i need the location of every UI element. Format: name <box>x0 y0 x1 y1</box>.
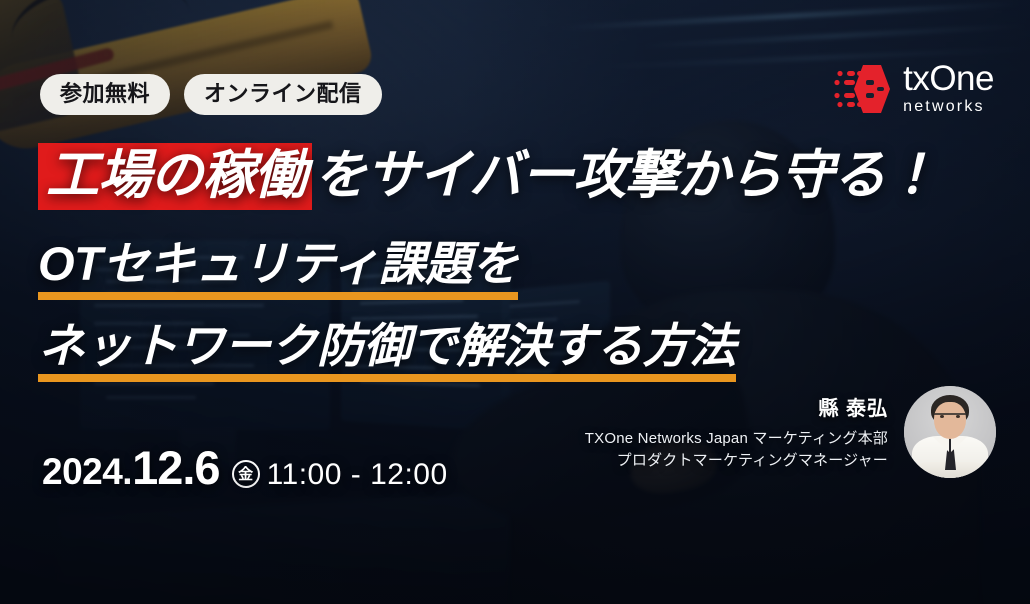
event-year: 2024. <box>42 451 132 493</box>
headline-underline-2 <box>38 292 518 300</box>
event-day: 12.6 <box>132 440 219 495</box>
headline-line-2-row: OTセキュリティ課題を <box>38 204 1006 300</box>
speaker-name: 縣 泰弘 <box>585 392 888 421</box>
headline-line-2: OTセキュリティ課題を <box>38 238 518 300</box>
event-day-of-week-badge: 金 <box>232 460 260 488</box>
webinar-banner: 参加無料 オンライン配信 <box>0 0 1030 604</box>
logo-subtitle: networks <box>903 98 985 116</box>
event-time: 11:00 - 12:00 <box>267 458 448 492</box>
logo-wordmark: txOne <box>903 62 994 95</box>
headline-block: 工場の稼働をサイバー攻撃から守る！ OTセキュリティ課題を ネットワーク防御で解… <box>38 148 1006 382</box>
speaker-affiliation: TXOne Networks Japan マーケティング本部 <box>585 428 888 451</box>
badge-free-entry: 参加無料 <box>40 74 170 115</box>
txone-logo-text: txOne networks <box>903 62 994 116</box>
headline-line-1-row: 工場の稼働をサイバー攻撃から守る！ <box>38 148 1006 204</box>
headline-line-1-rest: をサイバー攻撃から守る！ <box>314 146 937 205</box>
banner-content: 参加無料 オンライン配信 <box>0 0 1030 604</box>
speaker-block: 縣 泰弘 TXOne Networks Japan マーケティング本部 プロダク… <box>585 386 996 478</box>
headline-line-1: 工場の稼働をサイバー攻撃から守る！ <box>38 148 937 204</box>
headline-line-2-text: OTセキュリティ課題を <box>38 237 518 290</box>
speaker-details: 縣 泰弘 TXOne Networks Japan マーケティング本部 プロダク… <box>585 392 888 473</box>
headline-line-3-row: ネットワーク防御で解決する方法 <box>38 300 1006 382</box>
speaker-portrait <box>904 386 996 478</box>
event-datetime: 2024. 12.6 金 11:00 - 12:00 <box>42 440 448 495</box>
headline-line-3-text: ネットワーク防御で解決する方法 <box>38 319 736 372</box>
headline-line-3: ネットワーク防御で解決する方法 <box>38 320 736 382</box>
badge-group: 参加無料 オンライン配信 <box>40 74 382 115</box>
speaker-title: プロダクトマーケティングマネージャー <box>585 450 888 473</box>
txone-logo: txOne networks <box>833 62 994 116</box>
headline-underline-3 <box>38 374 736 382</box>
badge-online-streaming: オンライン配信 <box>184 74 382 115</box>
headline-highlight: 工場の稼働 <box>38 143 312 210</box>
txone-logo-mark <box>833 63 891 115</box>
